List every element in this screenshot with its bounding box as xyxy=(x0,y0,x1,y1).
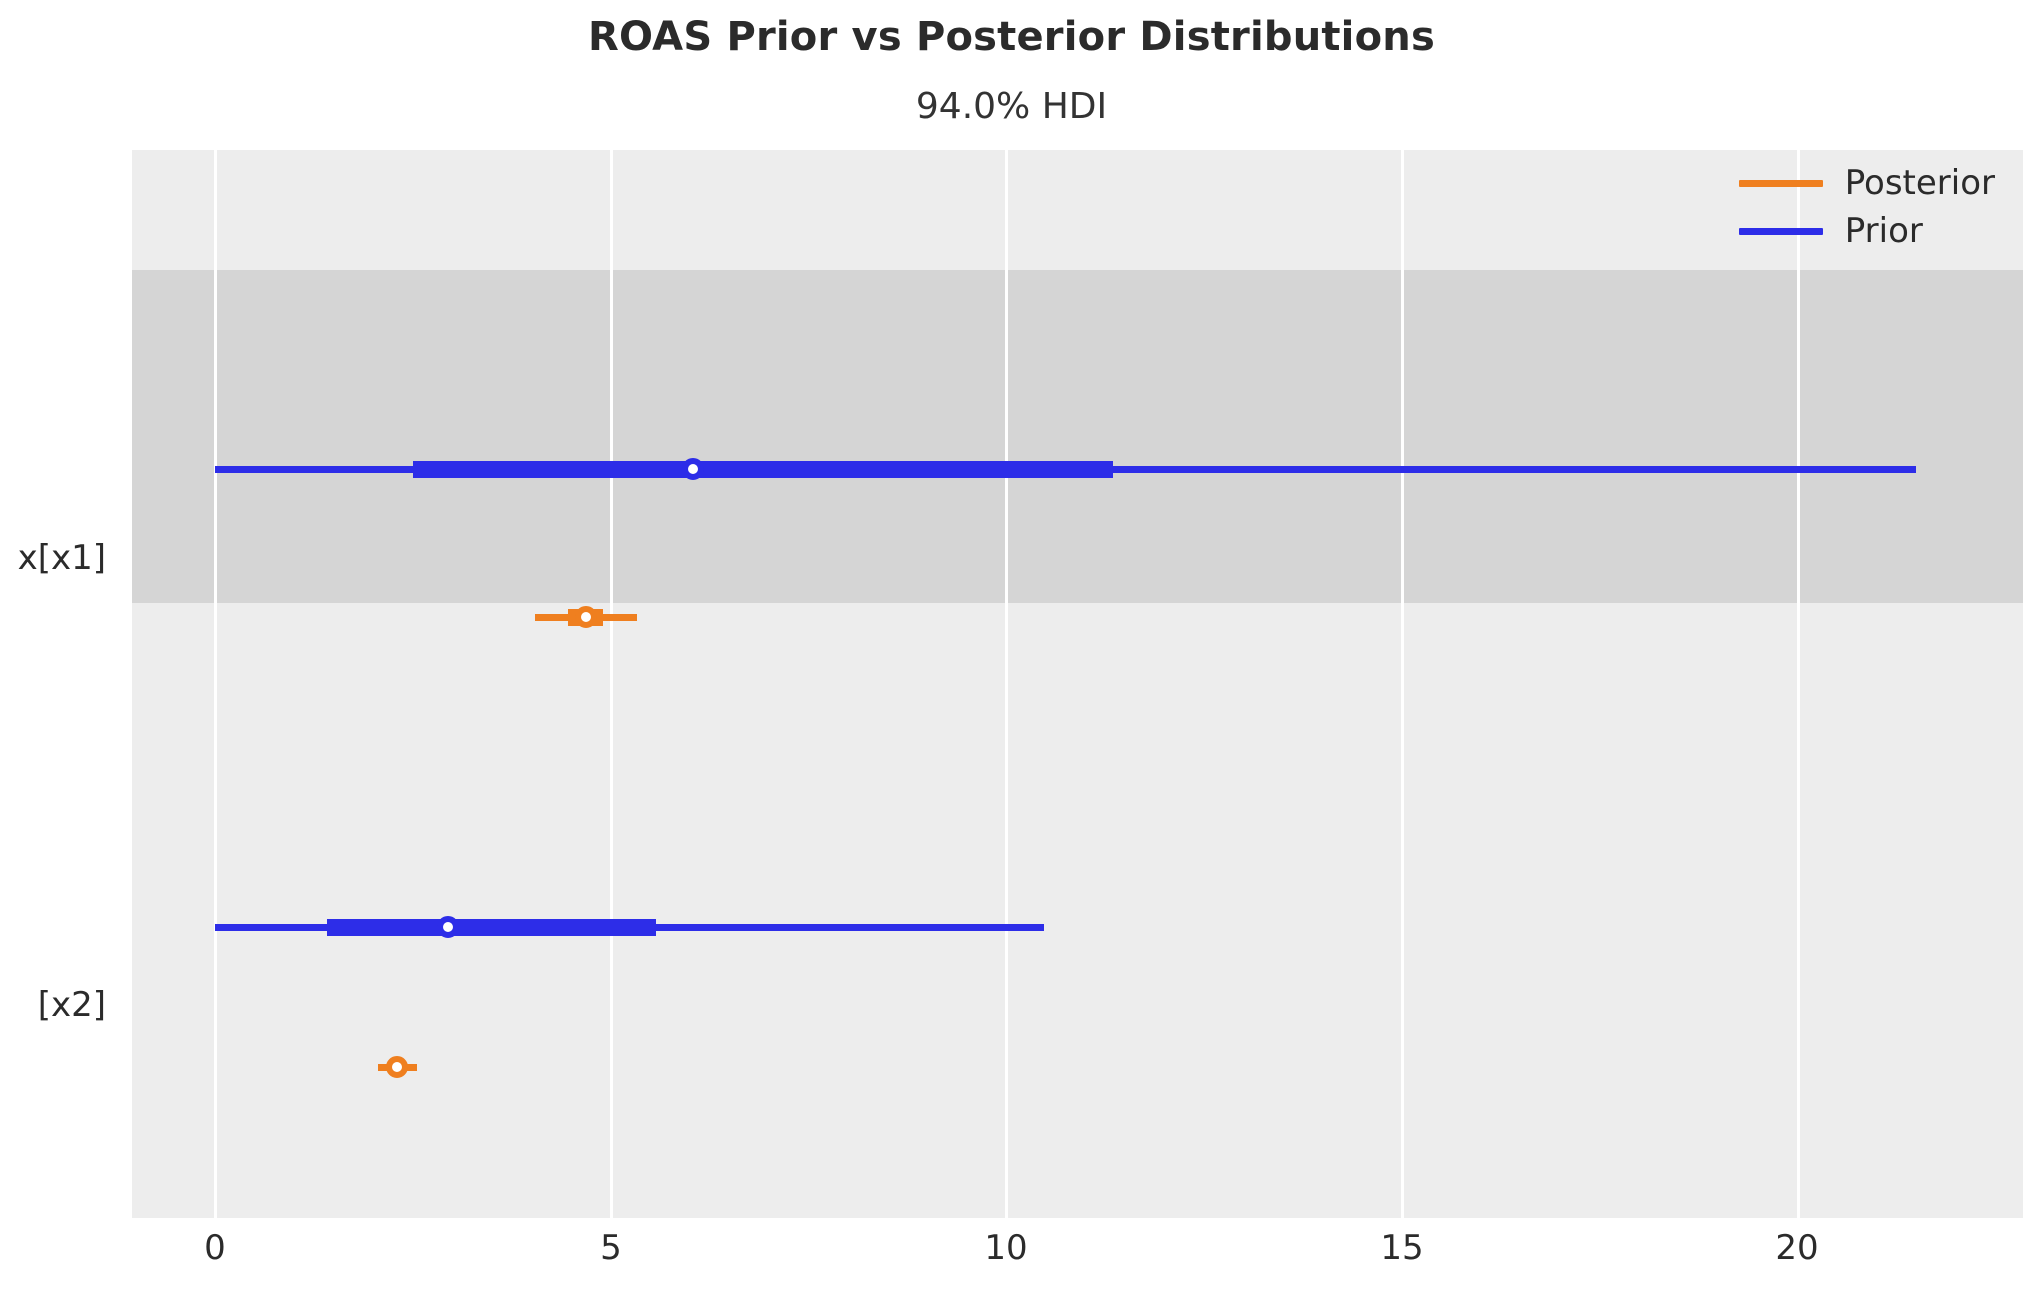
xtick-label-10: 10 xyxy=(984,1228,1027,1268)
prior-iqr-x1 xyxy=(413,461,1113,478)
page-title: ROAS Prior vs Posterior Distributions xyxy=(0,14,2023,60)
legend-swatch-posterior xyxy=(1739,180,1823,187)
legend-label-prior: Prior xyxy=(1845,214,1923,248)
row-band-x1 xyxy=(132,270,2023,603)
gridline-20 xyxy=(1797,150,1800,1218)
xtick-label-20: 20 xyxy=(1775,1228,1818,1268)
posterior-point-x1 xyxy=(575,606,597,628)
xtick-label-15: 15 xyxy=(1380,1228,1423,1268)
chart-subtitle: 94.0% HDI xyxy=(0,86,2023,127)
gridline-10 xyxy=(1005,150,1008,1218)
prior-iqr-x2 xyxy=(327,919,656,936)
legend-swatch-prior xyxy=(1739,228,1823,235)
ytick-label-x1: x[x1] xyxy=(18,538,106,578)
xtick-label-0: 0 xyxy=(204,1228,226,1268)
forest-plot-figure: ROAS Prior vs Posterior Distributions 94… xyxy=(0,0,2023,1303)
prior-point-x1 xyxy=(682,458,704,480)
gridline-0 xyxy=(214,150,217,1218)
legend: Posterior Prior xyxy=(1733,160,2005,254)
gridline-5 xyxy=(610,150,613,1218)
y-axis-ticks: x[x1] [x2] xyxy=(0,0,120,1303)
legend-item-prior[interactable]: Prior xyxy=(1739,214,1923,248)
gridline-15 xyxy=(1401,150,1404,1218)
plot-area xyxy=(132,150,2023,1218)
posterior-point-x2 xyxy=(386,1056,408,1078)
xtick-label-5: 5 xyxy=(600,1228,622,1268)
legend-item-posterior[interactable]: Posterior xyxy=(1739,166,1995,200)
legend-label-posterior: Posterior xyxy=(1845,166,1995,200)
ytick-label-x2: [x2] xyxy=(38,985,106,1025)
